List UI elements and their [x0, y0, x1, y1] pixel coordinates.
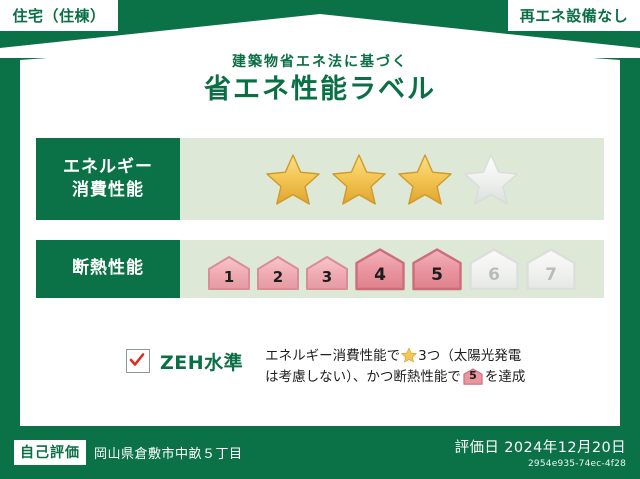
zeh-desc-star-count: 3つ（太陽光発電: [418, 348, 521, 364]
star-icon-filled-2: [331, 152, 387, 206]
house-icon-grade-3: 3: [305, 255, 349, 291]
energy-label-line2: 消費性能: [72, 179, 144, 202]
house-icon-grade-4: 4: [354, 247, 406, 291]
zeh-checkbox: [126, 349, 150, 373]
star-rating: [265, 152, 519, 206]
energy-label-line1: エネルギー: [63, 156, 153, 179]
insulation-performance-row-label: 断熱性能: [36, 240, 180, 298]
footer-left: 自己評価 岡山県倉敷市中畝５丁目: [14, 440, 243, 465]
zeh-desc-text-c: を達成: [485, 369, 526, 385]
energy-performance-label: 住宅（住棟） 再エネ設備なし 建築物省エネ法に基づく 省エネ性能ラベル エネルギ…: [0, 0, 640, 479]
insulation-grade-container: 1 2 3: [180, 240, 604, 298]
house-icon-grade-2: 2: [256, 255, 300, 291]
zeh-title: ZEH水準: [160, 348, 243, 375]
footer-right: 評価日 2024年12月20日 2954e935-74ec-4f28: [455, 436, 626, 469]
zeh-desc-text-b: は考慮しない）、かつ断熱性能で: [265, 369, 461, 385]
star-icon-inline: [401, 347, 417, 363]
house-icon-grade-1: 1: [207, 255, 251, 291]
evaluation-date: 評価日 2024年12月20日: [455, 436, 626, 457]
title-subtitle: 建築物省エネ法に基づく: [20, 54, 620, 71]
insulation-grade-scale: 1 2 3: [207, 247, 577, 291]
zeh-description-line2: は考慮しない）、かつ断熱性能で5を達成: [265, 367, 525, 388]
property-address: 岡山県倉敷市中畝５丁目: [94, 443, 243, 462]
house-icon-grade-7: 7: [525, 247, 577, 291]
label-title: 建築物省エネ法に基づく 省エネ性能ラベル: [20, 54, 620, 107]
star-icon-filled-3: [397, 152, 453, 206]
renewable-energy-badge: 再エネ設備なし: [508, 0, 640, 31]
building-type-badge: 住宅（住棟）: [0, 0, 118, 31]
self-evaluation-badge: 自己評価: [14, 440, 86, 465]
star-icon-empty-4: [463, 152, 519, 206]
title-main: 省エネ性能ラベル: [20, 73, 620, 107]
insulation-label-line1: 断熱性能: [72, 257, 144, 280]
zeh-desc-text-a: エネルギー消費性能で: [265, 348, 400, 364]
check-icon: [129, 352, 145, 368]
house-icon-inline: 5: [463, 368, 483, 385]
energy-performance-row-label: エネルギー 消費性能: [36, 138, 180, 220]
zeh-standard-block: ZEH水準 エネルギー消費性能で3つ（太陽光発電 は考慮しない）、かつ断熱性能で…: [126, 346, 525, 388]
house-icon-grade-6: 6: [468, 247, 520, 291]
energy-performance-row: エネルギー 消費性能: [36, 138, 604, 220]
zeh-description: エネルギー消費性能で3つ（太陽光発電 は考慮しない）、かつ断熱性能で5を達成: [265, 346, 525, 388]
energy-rating-stars-container: [180, 138, 604, 220]
star-icon-filled-1: [265, 152, 321, 206]
renewable-energy-badge-label: 再エネ設備なし: [520, 5, 629, 26]
evaluation-id: 2954e935-74ec-4f28: [455, 459, 626, 469]
house-icon-grade-5: 5: [411, 247, 463, 291]
insulation-performance-row: 断熱性能 1: [36, 240, 604, 298]
zeh-description-line1: エネルギー消費性能で3つ（太陽光発電: [265, 346, 525, 367]
building-type-badge-label: 住宅（住棟）: [12, 5, 105, 26]
